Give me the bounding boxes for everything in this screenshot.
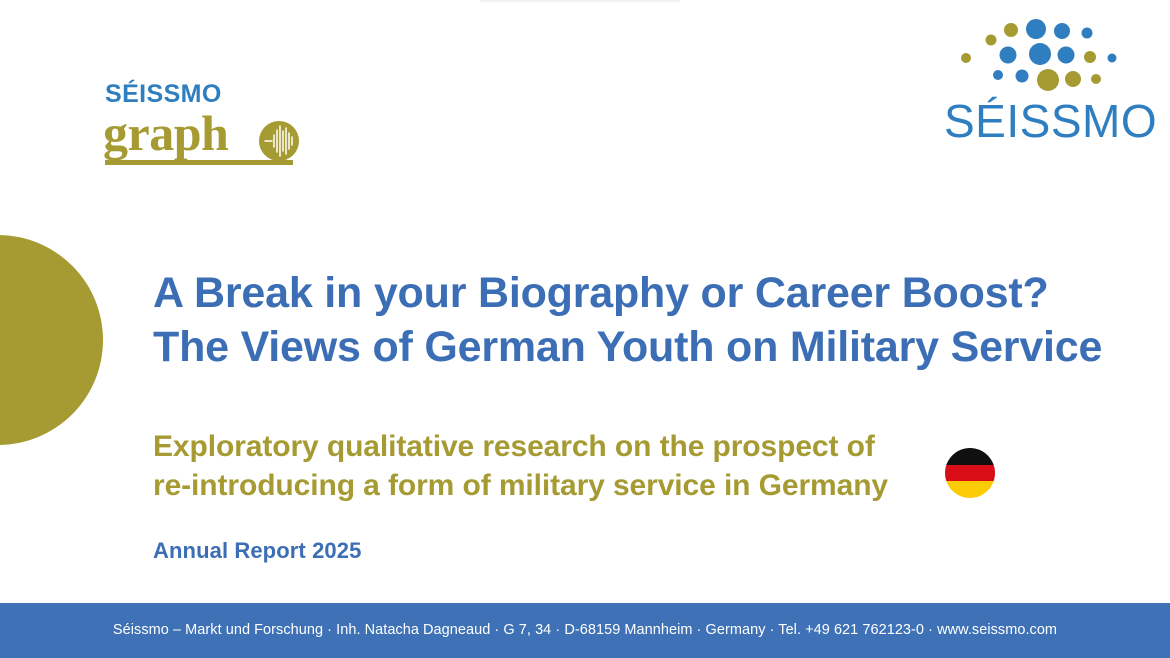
- seissmo-grapho-logo: SÉISSMO graph: [103, 82, 303, 167]
- flag-band-black: [945, 448, 995, 465]
- top-rule-decoration: [480, 0, 680, 2]
- flag-band-gold: [945, 481, 995, 498]
- page-subtitle-line-2: re-introducing a form of military servic…: [153, 466, 933, 505]
- grapho-logo-underline: [105, 160, 293, 165]
- title-slide: SÉISSMO graph: [0, 0, 1170, 658]
- page-title-line-1: A Break in your Biography or Career Boos…: [153, 266, 1113, 320]
- german-flag-roundel-icon: [945, 448, 995, 498]
- page-title: A Break in your Biography or Career Boos…: [153, 266, 1113, 374]
- seissmo-wordmark: SÉISSMO: [944, 98, 1134, 144]
- page-subtitle: Exploratory qualitative research on the …: [153, 427, 933, 505]
- footer-imprint-text: Séissmo – Markt und Forschung · Inh. Nat…: [0, 603, 1170, 658]
- footer-bar: Séissmo – Markt und Forschung · Inh. Nat…: [0, 603, 1170, 658]
- gold-circle-decoration: [0, 235, 103, 445]
- flag-band-red: [945, 465, 995, 482]
- page-title-line-2: The Views of German Youth on Military Se…: [153, 320, 1113, 374]
- seissmo-dot-cluster-icon: [944, 14, 1134, 92]
- page-subtitle-line-1: Exploratory qualitative research on the …: [153, 427, 933, 466]
- report-label: Annual Report 2025: [153, 538, 361, 564]
- seismograph-circle-icon: [258, 120, 300, 162]
- grapho-logo-top-word: SÉISSMO: [103, 82, 303, 107]
- seissmo-logo: SÉISSMO: [944, 14, 1134, 139]
